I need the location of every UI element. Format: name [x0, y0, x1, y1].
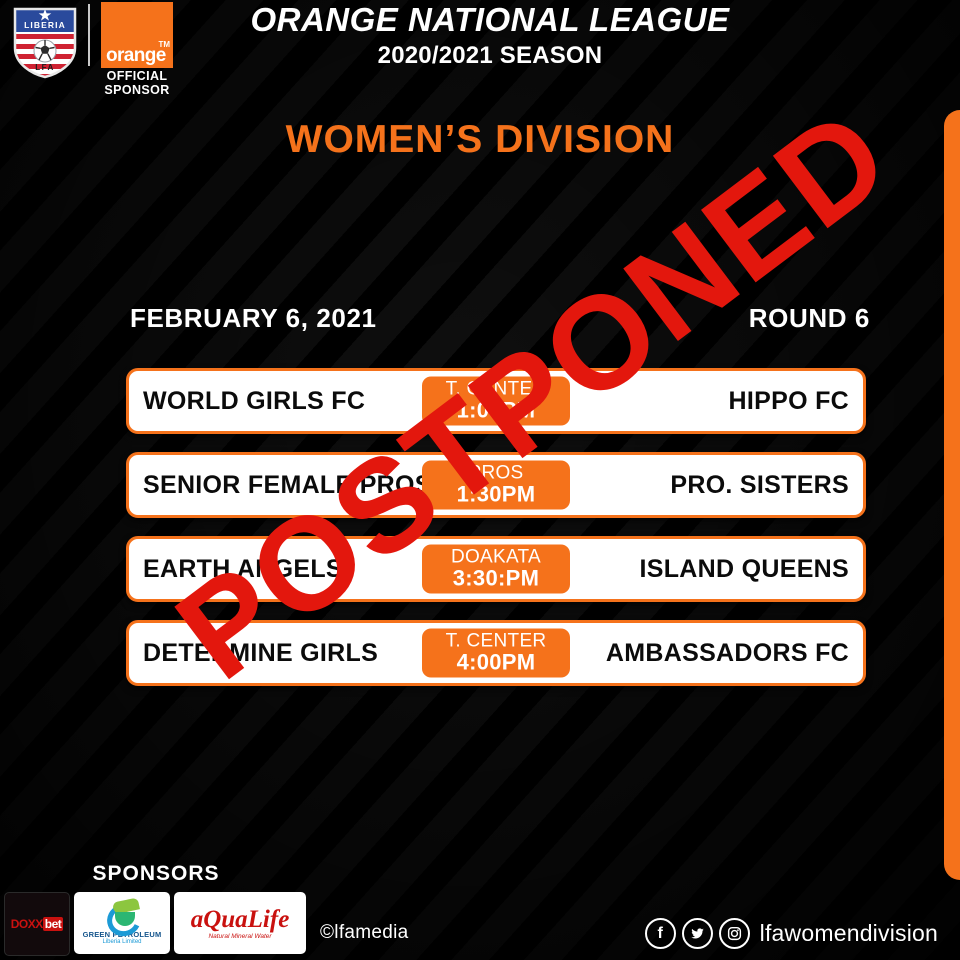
official-sponsor-caption: OFFICIAL SPONSOR [98, 70, 176, 97]
fixture-row[interactable]: WORLD GIRLS FC T. CENTER 1:00PM HIPPO FC [126, 368, 866, 434]
social-block: f lfawomendivision [645, 918, 938, 949]
kickoff-time: 1:30PM [432, 484, 560, 506]
fixture-row[interactable]: DETERMINE GIRLS T. CENTER 4:00PM AMBASSA… [126, 620, 866, 686]
sponsor-logo-green-petroleum: GREEN PETROLEUM Liberia Limited [74, 892, 170, 954]
green-petroleum-mark-icon [105, 900, 139, 930]
venue-name: PROS [432, 464, 560, 483]
league-title: ORANGE NATIONAL LEAGUE [190, 2, 790, 39]
venue-name: T. CENTER [432, 380, 560, 399]
media-credit: ©lfamedia [320, 922, 409, 944]
kickoff-time: 1:00PM [432, 400, 560, 422]
sponsor-logo-aqualife: aQuaLife Natural Mineral Water [174, 892, 306, 954]
sponsor-caption-line2: SPONSOR [98, 84, 176, 98]
fixture-meta-row: FEBRUARY 6, 2021 ROUND 6 [130, 303, 870, 334]
aqualife-subtitle: Natural Mineral Water [208, 933, 271, 940]
betting-wordmark-suffix: bet [43, 917, 64, 931]
svg-text:LFA: LFA [35, 63, 55, 72]
venue-time-badge: DOAKATA 3:30:PM [422, 545, 570, 594]
venue-time-badge: PROS 1:30PM [422, 461, 570, 510]
sponsor-logo-betting: DOXXbet [4, 892, 70, 956]
fixture-poster: LIBERIA LFA orange TM OFFICIAL SPONSOR O… [0, 0, 960, 960]
orange-sponsor-block: orange TM OFFICIAL SPONSOR [98, 2, 176, 97]
venue-name: T. CENTER [432, 632, 560, 651]
fixture-round: ROUND 6 [749, 303, 870, 334]
sponsor-caption-line1: OFFICIAL [98, 70, 176, 84]
aqualife-title: aQuaLife [191, 907, 290, 932]
division-title: WOMEN’S DIVISION [0, 118, 960, 162]
orange-wordmark: orange [106, 46, 166, 65]
sponsors-heading: SPONSORS [0, 862, 312, 886]
venue-name: DOAKATA [432, 548, 560, 567]
right-accent-bar [944, 110, 960, 880]
fixture-date: FEBRUARY 6, 2021 [130, 303, 377, 334]
venue-time-badge: T. CENTER 1:00PM [422, 377, 570, 426]
fixture-list: WORLD GIRLS FC T. CENTER 1:00PM HIPPO FC… [126, 368, 866, 704]
venue-time-badge: T. CENTER 4:00PM [422, 629, 570, 678]
instagram-icon[interactable] [719, 918, 750, 949]
twitter-icon[interactable] [682, 918, 713, 949]
orange-logo-icon: orange TM [101, 2, 173, 68]
social-handle: lfawomendivision [760, 920, 938, 947]
orange-trademark-mark: TM [158, 41, 170, 49]
sponsor-logo-strip: DOXXbet GREEN PETROLEUM Liberia Limited … [0, 892, 312, 956]
facebook-icon[interactable]: f [645, 918, 676, 949]
header-divider [88, 4, 90, 66]
fixture-row[interactable]: EARTH ANGELS DOAKATA 3:30:PM ISLAND QUEE… [126, 536, 866, 602]
green-petroleum-subtitle: Liberia Limited [102, 939, 141, 946]
svg-text:LIBERIA: LIBERIA [24, 20, 66, 30]
liberia-lfa-shield-icon: LIBERIA LFA [12, 6, 78, 80]
kickoff-time: 4:00PM [432, 652, 560, 674]
sponsors-block: SPONSORS DOXXbet GREEN PETROLEUM Liberia… [0, 862, 312, 956]
betting-wordmark: DOXXbet [11, 917, 64, 931]
fixture-row[interactable]: SENIOR FEMALE PROS PROS 1:30PM PRO. SIST… [126, 452, 866, 518]
betting-wordmark-prefix: DOXX [11, 917, 43, 931]
poster-header: LIBERIA LFA orange TM OFFICIAL SPONSOR O… [0, 0, 960, 115]
kickoff-time: 3:30:PM [432, 568, 560, 590]
season-subtitle: 2020/2021 SEASON [190, 42, 790, 70]
